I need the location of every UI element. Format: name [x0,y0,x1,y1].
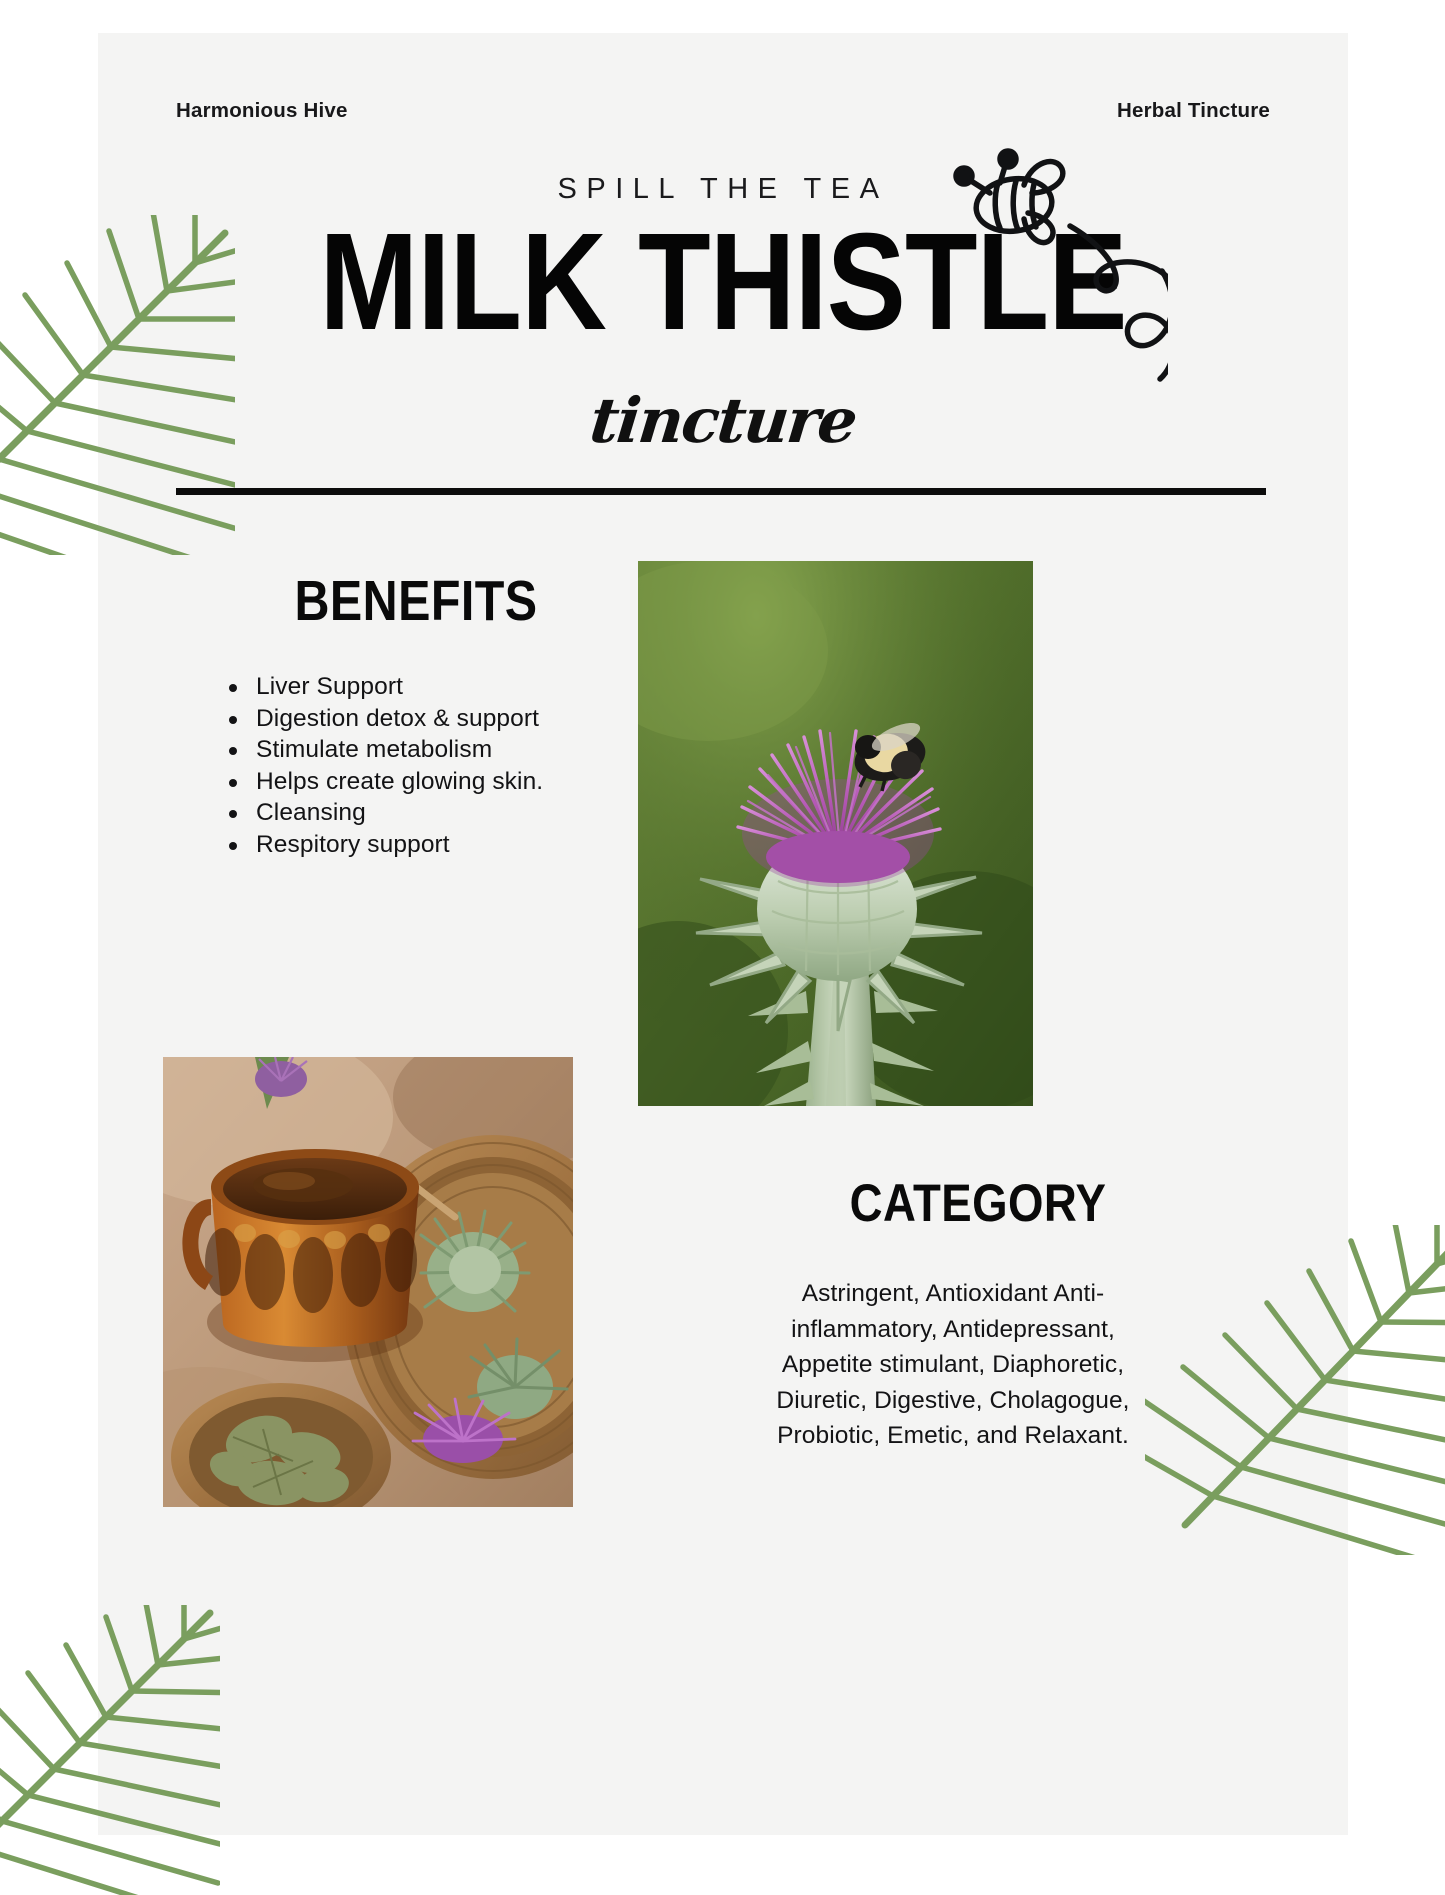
bee-icon [928,143,1168,443]
category-text: Astringent, Antioxidant Anti- inflammato… [643,1276,1263,1454]
poster-panel: Harmonious Hive Herbal Tincture SPILL TH… [98,33,1348,1835]
benefits-heading: BENEFITS [212,568,620,634]
category-line: inflammatory, Antidepressant, [643,1312,1263,1348]
brand-label: Harmonious Hive [176,99,348,123]
thistle-photo [638,561,1033,1106]
category-heading: CATEGORY [737,1173,1219,1234]
category-line: Diuretic, Digestive, Cholagogue, [643,1383,1263,1419]
tea-photo [163,1057,573,1507]
category-line: Astringent, Antioxidant Anti- [643,1276,1263,1312]
category-line: Probiotic, Emetic, and Relaxant. [643,1418,1263,1454]
header-category-label: Herbal Tincture [1117,99,1270,123]
header-row: Harmonious Hive Herbal Tincture [98,99,1348,123]
title-divider-rule [176,488,1266,495]
category-line: Appetite stimulant, Diaphoretic, [643,1347,1263,1383]
